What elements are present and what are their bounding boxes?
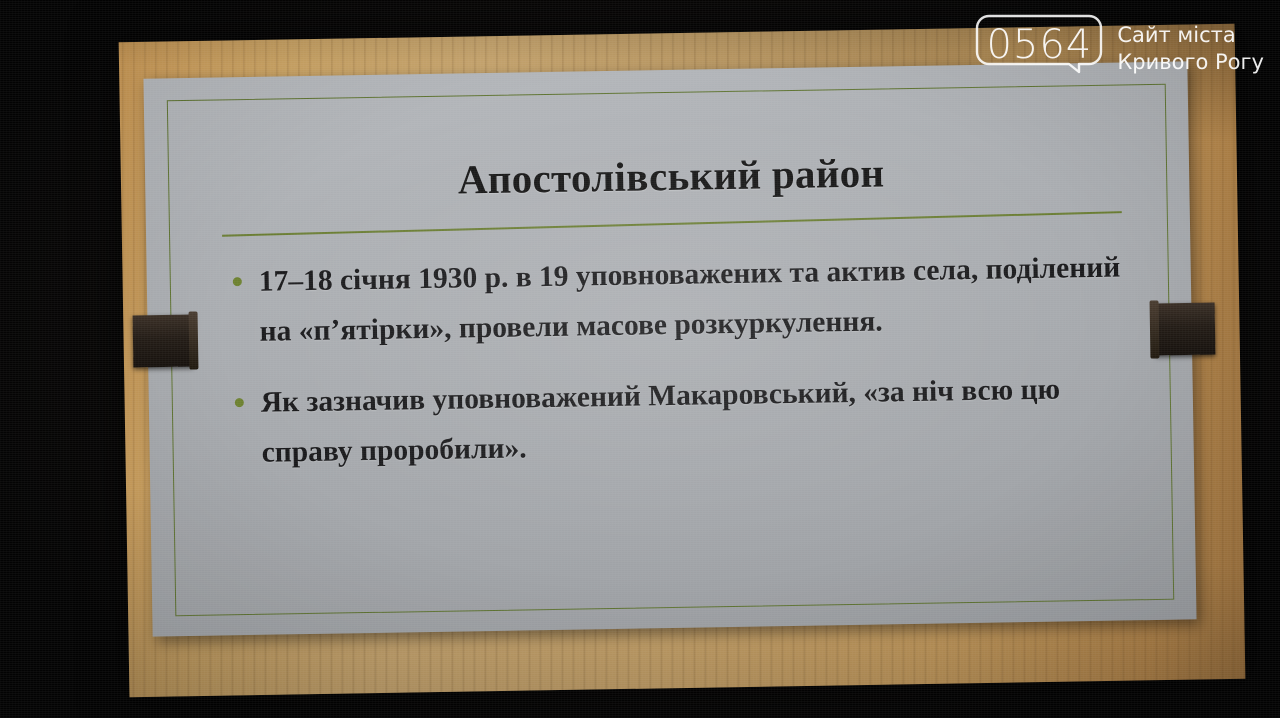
slide-title: Апостолівський район — [215, 144, 1128, 207]
slide-bullet-item: Як зазначив уповноважений Макаровський, … — [230, 364, 1124, 479]
slide-content: Апостолівський район 17–18 січня 1930 р.… — [214, 118, 1133, 587]
screen-clip-left — [133, 315, 194, 368]
slide-bullet-item: 17–18 січня 1930 р. в 19 уповноважених т… — [228, 243, 1122, 358]
screen-clip-right — [1155, 303, 1216, 356]
title-divider-rule — [222, 211, 1122, 237]
photo-scene: Апостолівський район 17–18 січня 1930 р.… — [0, 0, 1280, 718]
presentation-slide: Апостолівський район 17–18 січня 1930 р.… — [143, 61, 1196, 636]
slide-bullet-list: 17–18 січня 1930 р. в 19 уповноважених т… — [216, 242, 1132, 478]
